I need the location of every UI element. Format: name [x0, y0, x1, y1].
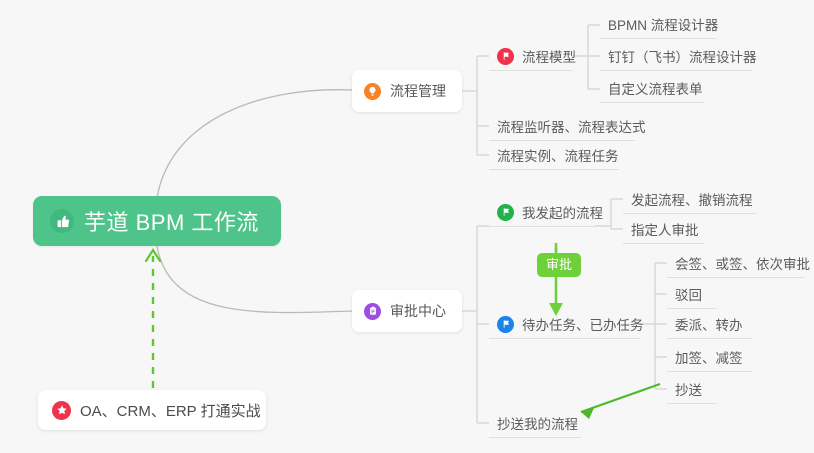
- node-reject[interactable]: 驳回: [667, 280, 716, 309]
- node-cc-my-process-label: 抄送我的流程: [497, 413, 578, 433]
- node-reject-label: 驳回: [675, 284, 702, 304]
- node-cc[interactable]: 抄送: [667, 375, 716, 404]
- node-custom-process-form-label: 自定义流程表单: [608, 78, 703, 98]
- node-custom-process-form[interactable]: 自定义流程表单: [600, 74, 704, 103]
- floating-node-oa-crm-erp[interactable]: OA、CRM、ERP 打通实战: [38, 390, 266, 430]
- node-bpmn-designer-label: BPMN 流程设计器: [608, 14, 718, 34]
- node-dingtalk-feishu-designer-label: 钉钉（飞书）流程设计器: [608, 46, 757, 66]
- node-delegate-transfer-label: 委派、转办: [675, 314, 743, 334]
- node-process-model[interactable]: 流程模型: [489, 42, 572, 71]
- node-my-started-process-label: 我发起的流程: [522, 202, 603, 222]
- green-dashed-arrow-up: [146, 250, 160, 388]
- node-process-listener-expression-label: 流程监听器、流程表达式: [497, 116, 646, 136]
- node-add-remove-sign[interactable]: 加签、减签: [667, 343, 752, 372]
- node-cc-my-process[interactable]: 抄送我的流程: [489, 409, 581, 438]
- node-start-cancel-process[interactable]: 发起流程、撤销流程: [623, 185, 756, 214]
- node-process-instance-task-label: 流程实例、流程任务: [497, 145, 619, 165]
- root-node-label: 芋道 BPM 工作流: [84, 205, 259, 237]
- branch-node-approval-center-label: 审批中心: [390, 301, 446, 321]
- edge-root-to-process-mgmt: [157, 90, 352, 198]
- flag-icon: [497, 204, 514, 221]
- node-bpmn-designer[interactable]: BPMN 流程设计器: [600, 10, 716, 39]
- flag-icon: [497, 316, 514, 333]
- node-delegate-transfer[interactable]: 委派、转办: [667, 310, 752, 339]
- node-cc-label: 抄送: [675, 379, 702, 399]
- node-todo-done-task[interactable]: 待办任务、已办任务: [489, 310, 640, 339]
- node-process-instance-task[interactable]: 流程实例、流程任务: [489, 141, 619, 170]
- clipboard-icon: [364, 303, 381, 320]
- node-countersign-orsign-sequential[interactable]: 会签、或签、依次审批: [667, 249, 804, 278]
- node-countersign-orsign-sequential-label: 会签、或签、依次审批: [675, 253, 810, 273]
- green-arrow-to-cc-my-process: [581, 384, 660, 419]
- root-node[interactable]: 芋道 BPM 工作流: [33, 196, 281, 246]
- flag-icon: [497, 48, 514, 65]
- node-assignee-approval-label: 指定人审批: [631, 219, 699, 239]
- node-process-model-label: 流程模型: [522, 46, 576, 66]
- thumbs-up-icon: [50, 209, 74, 233]
- branch-node-approval-center[interactable]: 审批中心: [352, 290, 462, 332]
- approve-tag[interactable]: 审批: [537, 253, 581, 277]
- node-dingtalk-feishu-designer[interactable]: 钉钉（飞书）流程设计器: [600, 42, 752, 71]
- node-assignee-approval[interactable]: 指定人审批: [623, 215, 704, 244]
- branch-node-process-mgmt-label: 流程管理: [390, 81, 446, 101]
- branch-node-process-mgmt[interactable]: 流程管理: [352, 70, 462, 112]
- edge-root-to-approval-center: [157, 246, 352, 313]
- node-add-remove-sign-label: 加签、减签: [675, 347, 743, 367]
- node-todo-done-task-label: 待办任务、已办任务: [522, 314, 644, 334]
- node-my-started-process[interactable]: 我发起的流程: [489, 198, 595, 227]
- lightbulb-icon: [364, 83, 381, 100]
- node-process-listener-expression[interactable]: 流程监听器、流程表达式: [489, 112, 635, 141]
- node-start-cancel-process-label: 发起流程、撤销流程: [631, 189, 753, 209]
- floating-node-oa-crm-erp-label: OA、CRM、ERP 打通实战: [80, 400, 261, 421]
- star-icon: [52, 401, 71, 420]
- mindmap-canvas: 芋道 BPM 工作流 流程管理 流程模型 BPMN 流程设计器 钉钉（飞书）流程…: [0, 0, 814, 453]
